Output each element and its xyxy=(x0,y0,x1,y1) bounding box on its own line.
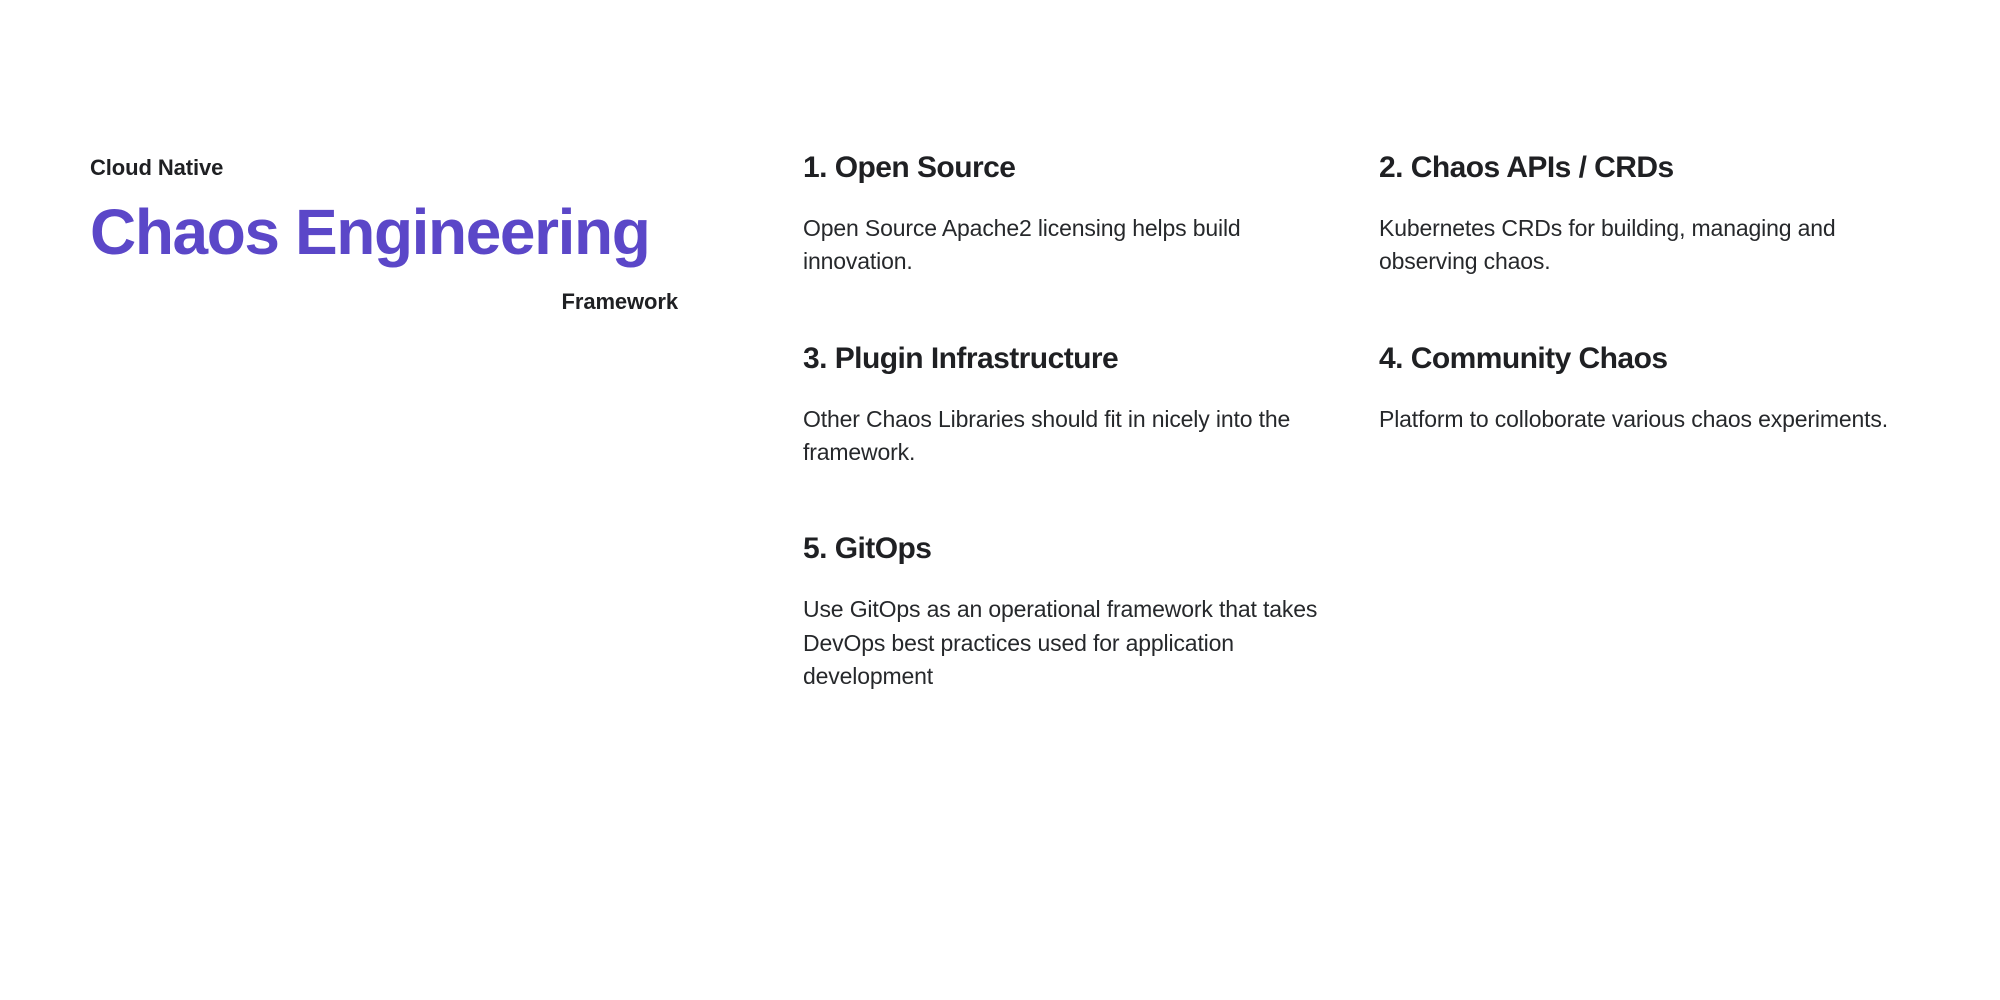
slide-canvas: Cloud Native Chaos Engineering Framework… xyxy=(0,0,2000,1000)
feature-body-1: Open Source Apache2 licensing helps buil… xyxy=(803,212,1323,279)
grid-spacer xyxy=(1379,531,1923,755)
eyebrow-label: Cloud Native xyxy=(90,155,680,181)
feature-item-2: 2. Chaos APIs / CRDs Kubernetes CRDs for… xyxy=(1379,150,1923,341)
title-block: Cloud Native Chaos Engineering Framework xyxy=(90,155,680,315)
feature-title-4: 4. Community Chaos xyxy=(1379,341,1923,377)
feature-title-2: 2. Chaos APIs / CRDs xyxy=(1379,150,1923,186)
feature-item-5: 5. GitOps Use GitOps as an operational f… xyxy=(803,531,1379,755)
feature-title-1: 1. Open Source xyxy=(803,150,1323,186)
feature-body-3: Other Chaos Libraries should fit in nice… xyxy=(803,403,1323,470)
feature-body-4: Platform to colloborate various chaos ex… xyxy=(1379,403,1899,436)
feature-item-4: 4. Community Chaos Platform to collobora… xyxy=(1379,341,1923,532)
feature-title-5: 5. GitOps xyxy=(803,531,1323,567)
feature-body-2: Kubernetes CRDs for building, managing a… xyxy=(1379,212,1899,279)
feature-title-3: 3. Plugin Infrastructure xyxy=(803,341,1323,377)
feature-grid: 1. Open Source Open Source Apache2 licen… xyxy=(803,150,1923,755)
feature-body-5: Use GitOps as an operational framework t… xyxy=(803,593,1323,693)
page-title: Chaos Engineering xyxy=(90,199,680,266)
feature-item-3: 3. Plugin Infrastructure Other Chaos Lib… xyxy=(803,341,1379,532)
feature-item-1: 1. Open Source Open Source Apache2 licen… xyxy=(803,150,1379,341)
subtitle-label: Framework xyxy=(90,289,680,315)
